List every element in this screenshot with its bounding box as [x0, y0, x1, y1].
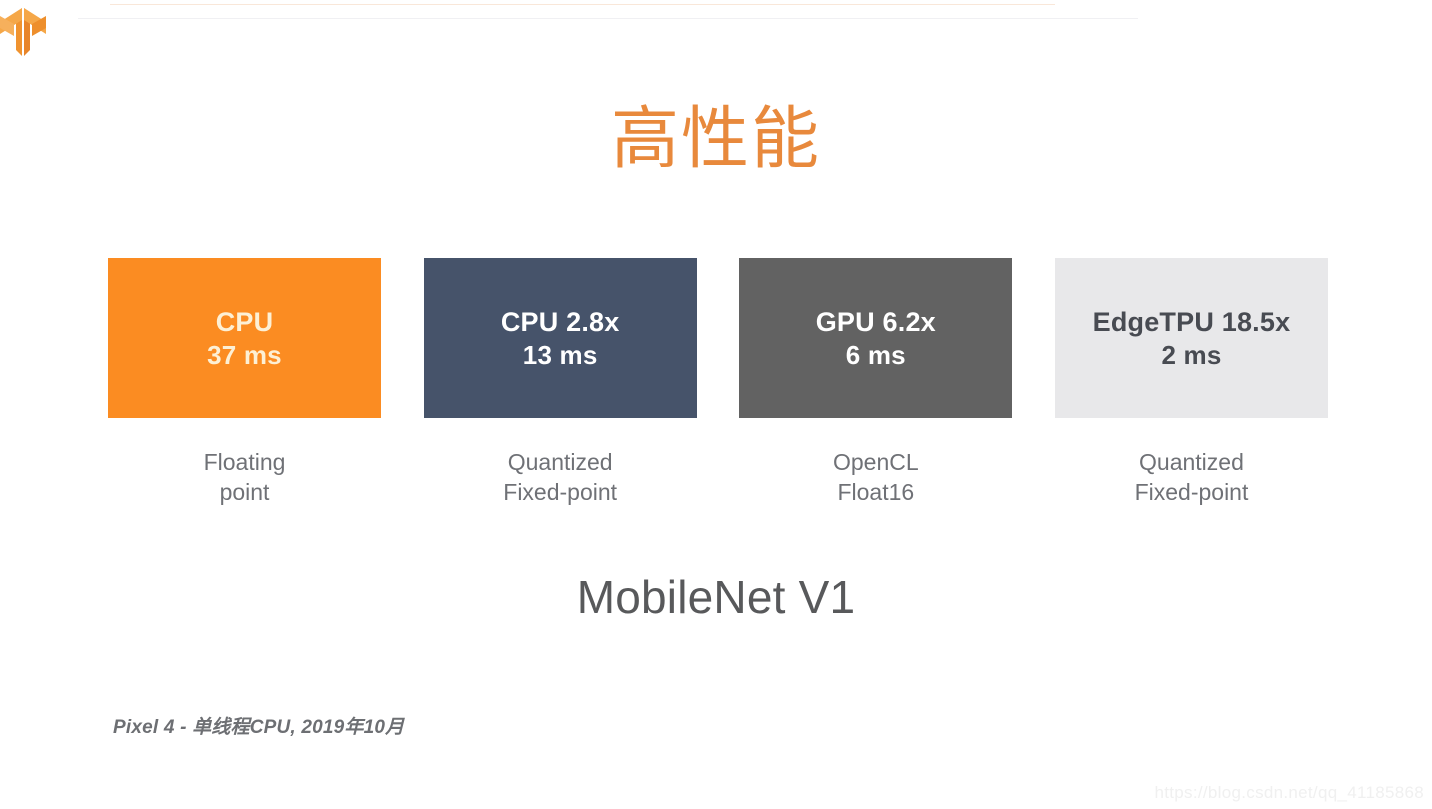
card-latency-value: 13 ms — [523, 339, 598, 372]
card-latency-value: 37 ms — [207, 339, 282, 372]
caption-line: Float16 — [739, 478, 1012, 508]
presentation-slide: 高性能 CPU 37 ms CPU 2.8x 13 ms GPU 6.2x 6 … — [0, 0, 1432, 809]
benchmark-caption-row: Floating point Quantized Fixed-point Ope… — [108, 448, 1328, 508]
benchmark-card-cpu-float: CPU 37 ms — [108, 258, 381, 418]
card-latency-value: 6 ms — [846, 339, 906, 372]
card-title: CPU — [216, 305, 274, 339]
card-title: EdgeTPU 18.5x — [1093, 305, 1291, 339]
caption-line: Fixed-point — [1055, 478, 1328, 508]
caption-line: OpenCL — [739, 448, 1012, 478]
card-latency-value: 2 ms — [1161, 339, 1221, 372]
caption-line: Floating — [108, 448, 381, 478]
caption-cpu-quantized: Quantized Fixed-point — [424, 448, 697, 508]
watermark-url: https://blog.csdn.net/qq_41185868 — [1154, 783, 1424, 803]
scan-artifact-line — [110, 4, 1055, 5]
caption-line: point — [108, 478, 381, 508]
card-title: GPU 6.2x — [816, 305, 936, 339]
page-title: 高性能 — [0, 106, 1432, 174]
benchmark-card-cpu-quantized: CPU 2.8x 13 ms — [424, 258, 697, 418]
footnote-text: Pixel 4 - 单线程CPU, 2019年10月 — [113, 712, 404, 739]
caption-cpu-float: Floating point — [108, 448, 381, 508]
model-name-label: MobileNet V1 — [0, 570, 1432, 624]
caption-edgetpu: Quantized Fixed-point — [1055, 448, 1328, 508]
caption-line: Fixed-point — [424, 478, 697, 508]
caption-line: Quantized — [424, 448, 697, 478]
tensorflow-logo — [0, 6, 52, 58]
benchmark-card-row: CPU 37 ms CPU 2.8x 13 ms GPU 6.2x 6 ms E… — [108, 258, 1328, 418]
caption-gpu: OpenCL Float16 — [739, 448, 1012, 508]
benchmark-card-gpu: GPU 6.2x 6 ms — [739, 258, 1012, 418]
scan-artifact-line-secondary — [78, 18, 1138, 19]
benchmark-card-edgetpu: EdgeTPU 18.5x 2 ms — [1055, 258, 1328, 418]
card-title: CPU 2.8x — [501, 305, 620, 339]
caption-line: Quantized — [1055, 448, 1328, 478]
